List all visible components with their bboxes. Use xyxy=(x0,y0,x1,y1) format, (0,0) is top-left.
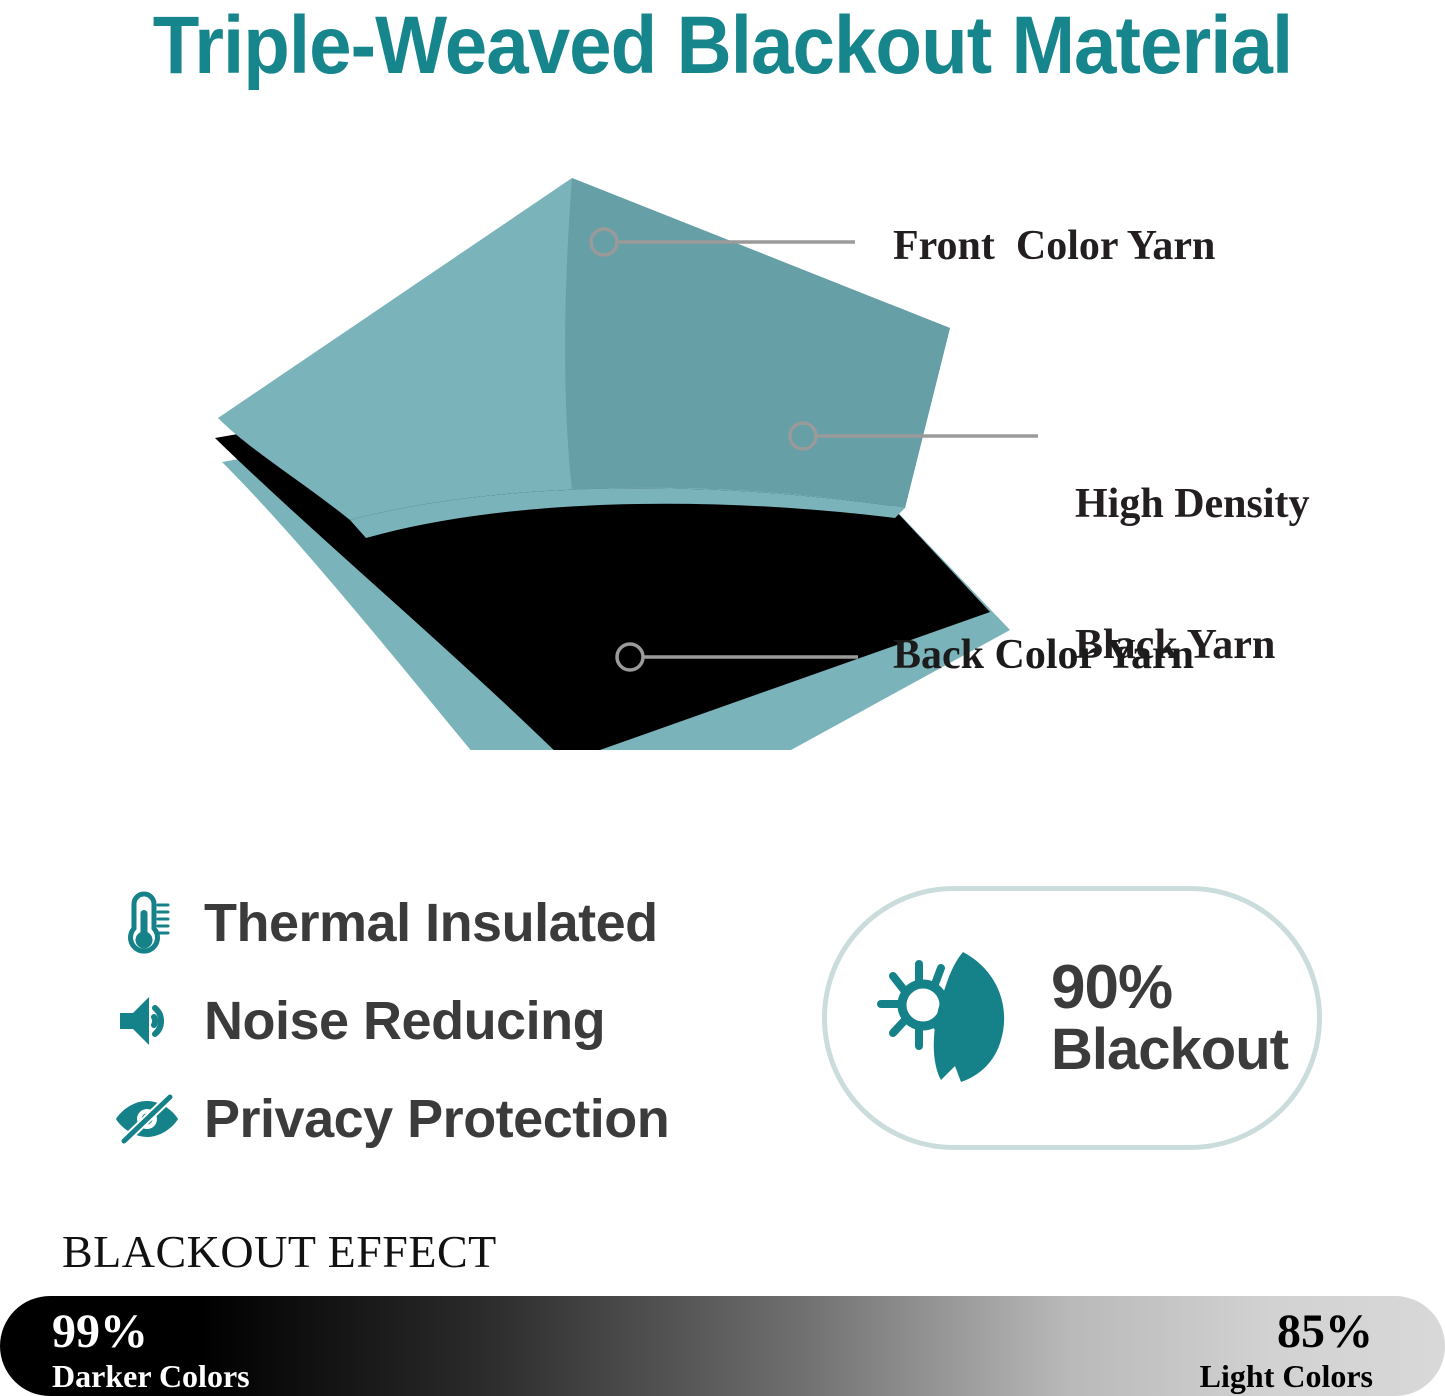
callout-back-color-yarn: Back Color Yarn xyxy=(893,632,1194,679)
sun-behind-curtain-icon xyxy=(855,933,1045,1103)
feature-label-noise: Noise Reducing xyxy=(204,990,605,1052)
eye-slash-icon xyxy=(108,1082,186,1156)
badge-word: Blackout xyxy=(1051,1020,1288,1080)
badge-percent: 90% xyxy=(1051,956,1288,1020)
bar-sublabel-darker: Darker Colors xyxy=(52,1360,250,1392)
thermometer-icon xyxy=(108,886,186,960)
feature-row-privacy: Privacy Protection xyxy=(108,1074,768,1164)
bar-percent-light: 85% xyxy=(1200,1308,1373,1356)
bar-percent-darker: 99% xyxy=(52,1308,250,1356)
bar-stat-darker: 99% Darker Colors xyxy=(52,1308,250,1392)
blackout-effect-gradient-bar: 99% Darker Colors 85% Light Colors xyxy=(0,1296,1445,1396)
badge-text-block: 90% Blackout xyxy=(1051,956,1288,1080)
blackout-badge: 90% Blackout xyxy=(822,886,1322,1150)
bar-sublabel-light: Light Colors xyxy=(1200,1360,1373,1392)
feature-label-thermal: Thermal Insulated xyxy=(204,892,658,954)
feature-row-noise: Noise Reducing xyxy=(108,976,768,1066)
page-title: Triple-Weaved Blackout Material xyxy=(51,0,1395,94)
feature-label-privacy: Privacy Protection xyxy=(204,1088,669,1150)
callout-line-1: High Density xyxy=(1075,481,1310,528)
speaker-icon xyxy=(108,984,186,1058)
bar-stat-light: 85% Light Colors xyxy=(1200,1308,1373,1392)
feature-row-thermal: Thermal Insulated xyxy=(108,878,768,968)
callout-front-color-yarn: Front Color Yarn xyxy=(893,223,1215,270)
feature-list: Thermal Insulated Noise Reducing Privacy… xyxy=(108,878,768,1172)
blackout-effect-heading: BLACKOUT EFFECT xyxy=(62,1225,497,1278)
